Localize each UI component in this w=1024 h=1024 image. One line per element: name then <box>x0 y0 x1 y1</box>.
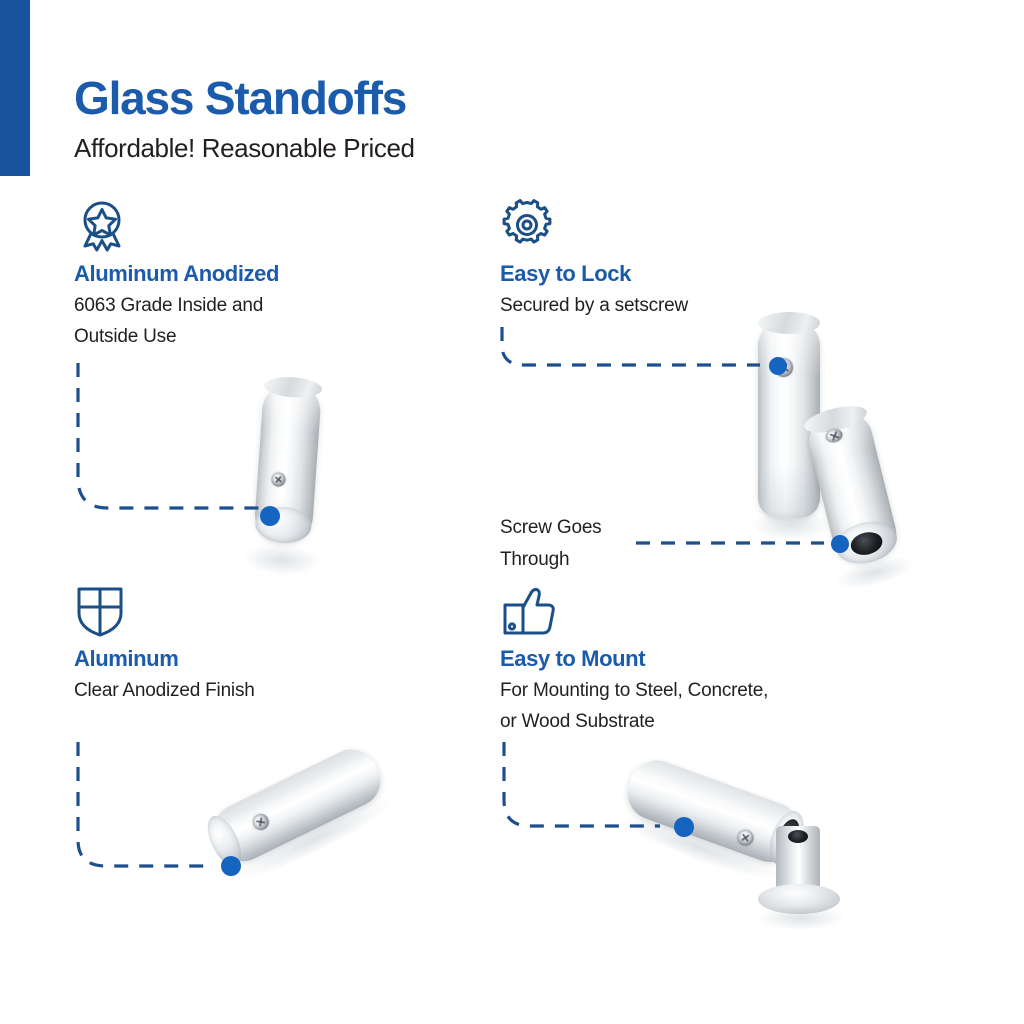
page-subtitle: Affordable! Reasonable Priced <box>74 134 415 163</box>
feature-body-line1: 6063 Grade Inside and <box>74 290 454 322</box>
feature-block-aluminum: Aluminum Clear Anodized Finish <box>74 583 454 706</box>
annotation-screw-goes-through: Screw Goes Through <box>500 512 660 575</box>
feature-body-line2: Outside Use <box>74 321 454 353</box>
product-standoff-anodized <box>234 374 367 572</box>
page-title: Glass Standoffs <box>74 74 415 122</box>
feature-block-aluminum-anodized: Aluminum Anodized 6063 Grade Inside and … <box>74 198 454 353</box>
product-standoff-through-hole <box>792 383 982 596</box>
feature-heading: Easy to Mount <box>500 645 920 673</box>
infographic-page: Glass Standoffs Affordable! Reasonable P… <box>0 0 1024 1024</box>
feature-heading: Easy to Lock <box>500 260 900 288</box>
thumbs-up-icon <box>500 583 920 639</box>
callout-line-easy-to-lock <box>502 327 760 365</box>
shield-icon <box>74 583 454 639</box>
header: Glass Standoffs Affordable! Reasonable P… <box>74 74 415 163</box>
feature-heading: Aluminum <box>74 645 454 673</box>
feature-body-line2: or Wood Substrate <box>500 706 920 738</box>
accent-bar <box>0 0 30 176</box>
annotation-line2: Through <box>500 544 660 576</box>
annotation-line1: Screw Goes <box>500 512 660 544</box>
feature-block-easy-to-lock: Easy to Lock Secured by a setscrew <box>500 198 900 321</box>
product-standoff-clear-anodized <box>189 711 430 925</box>
award-badge-icon <box>74 198 454 254</box>
callout-line-aluminum-anodized <box>78 363 266 508</box>
gear-icon <box>500 198 900 254</box>
feature-block-easy-to-mount: Easy to Mount For Mounting to Steel, Con… <box>500 583 920 738</box>
product-mounting-base <box>758 822 868 934</box>
feature-heading: Aluminum Anodized <box>74 260 454 288</box>
feature-body-line1: For Mounting to Steel, Concrete, <box>500 675 920 707</box>
feature-body-line1: Clear Anodized Finish <box>74 675 454 707</box>
